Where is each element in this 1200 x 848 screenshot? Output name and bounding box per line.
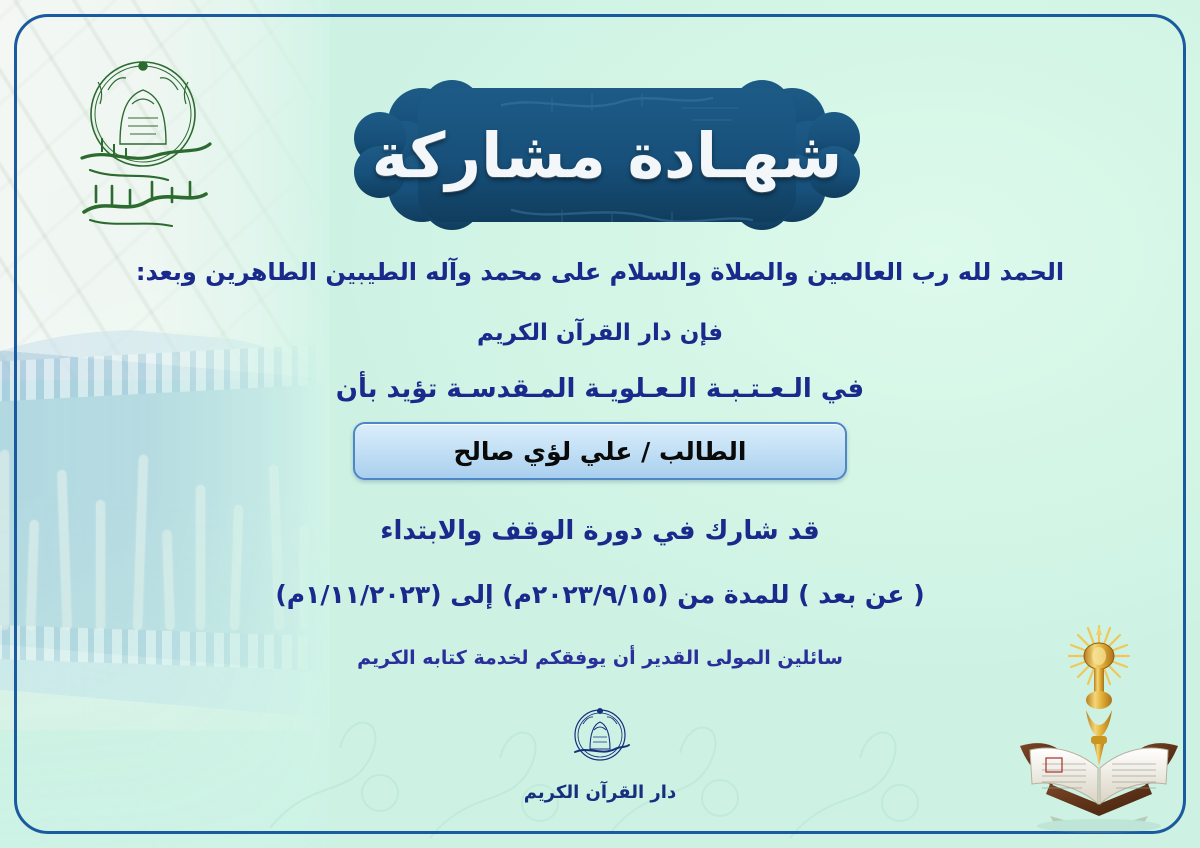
reflection [1037,816,1161,833]
finial-bulb [1086,710,1112,738]
issuer-line-1: فإن دار القرآن الكريم [0,320,1200,346]
recipient-name-box[interactable]: الطالب / علي لؤي صالح [353,422,847,480]
praise-line: الحمد لله رب العالمين والصلاة والسلام عل… [0,258,1200,286]
certificate-body: الحمد لله رب العالمين والصلاة والسلام عل… [0,258,1200,669]
title-banner: شهـادة مشاركة [352,60,862,250]
logo-emblem-icon [68,52,218,232]
banner-title-text: شهـادة مشاركة [352,60,862,250]
certificate-canvas: شهـادة مشاركة الحمد لله رب العالمين والص… [0,0,1200,848]
finial-spire [1094,744,1104,766]
rihal-base [1046,784,1152,816]
participation-line: قد شارك في دورة الوقف والابتداء [0,516,1200,546]
duration-line: ( عن بعد ) للمدة من (٢٠٢٣/٩/١٥م) إلى (١/… [0,580,1200,609]
dar-al-quran-logo [68,52,218,232]
issuer-line-2: في الـعـتـبـة الـعـلويـة المـقدسـة تؤيد … [0,374,1200,404]
dar-al-quran-seal-icon [569,704,631,766]
recipient-name-text: الطالب / علي لؤي صالح [454,437,747,466]
quran-on-rihal-illustration [1006,618,1196,833]
